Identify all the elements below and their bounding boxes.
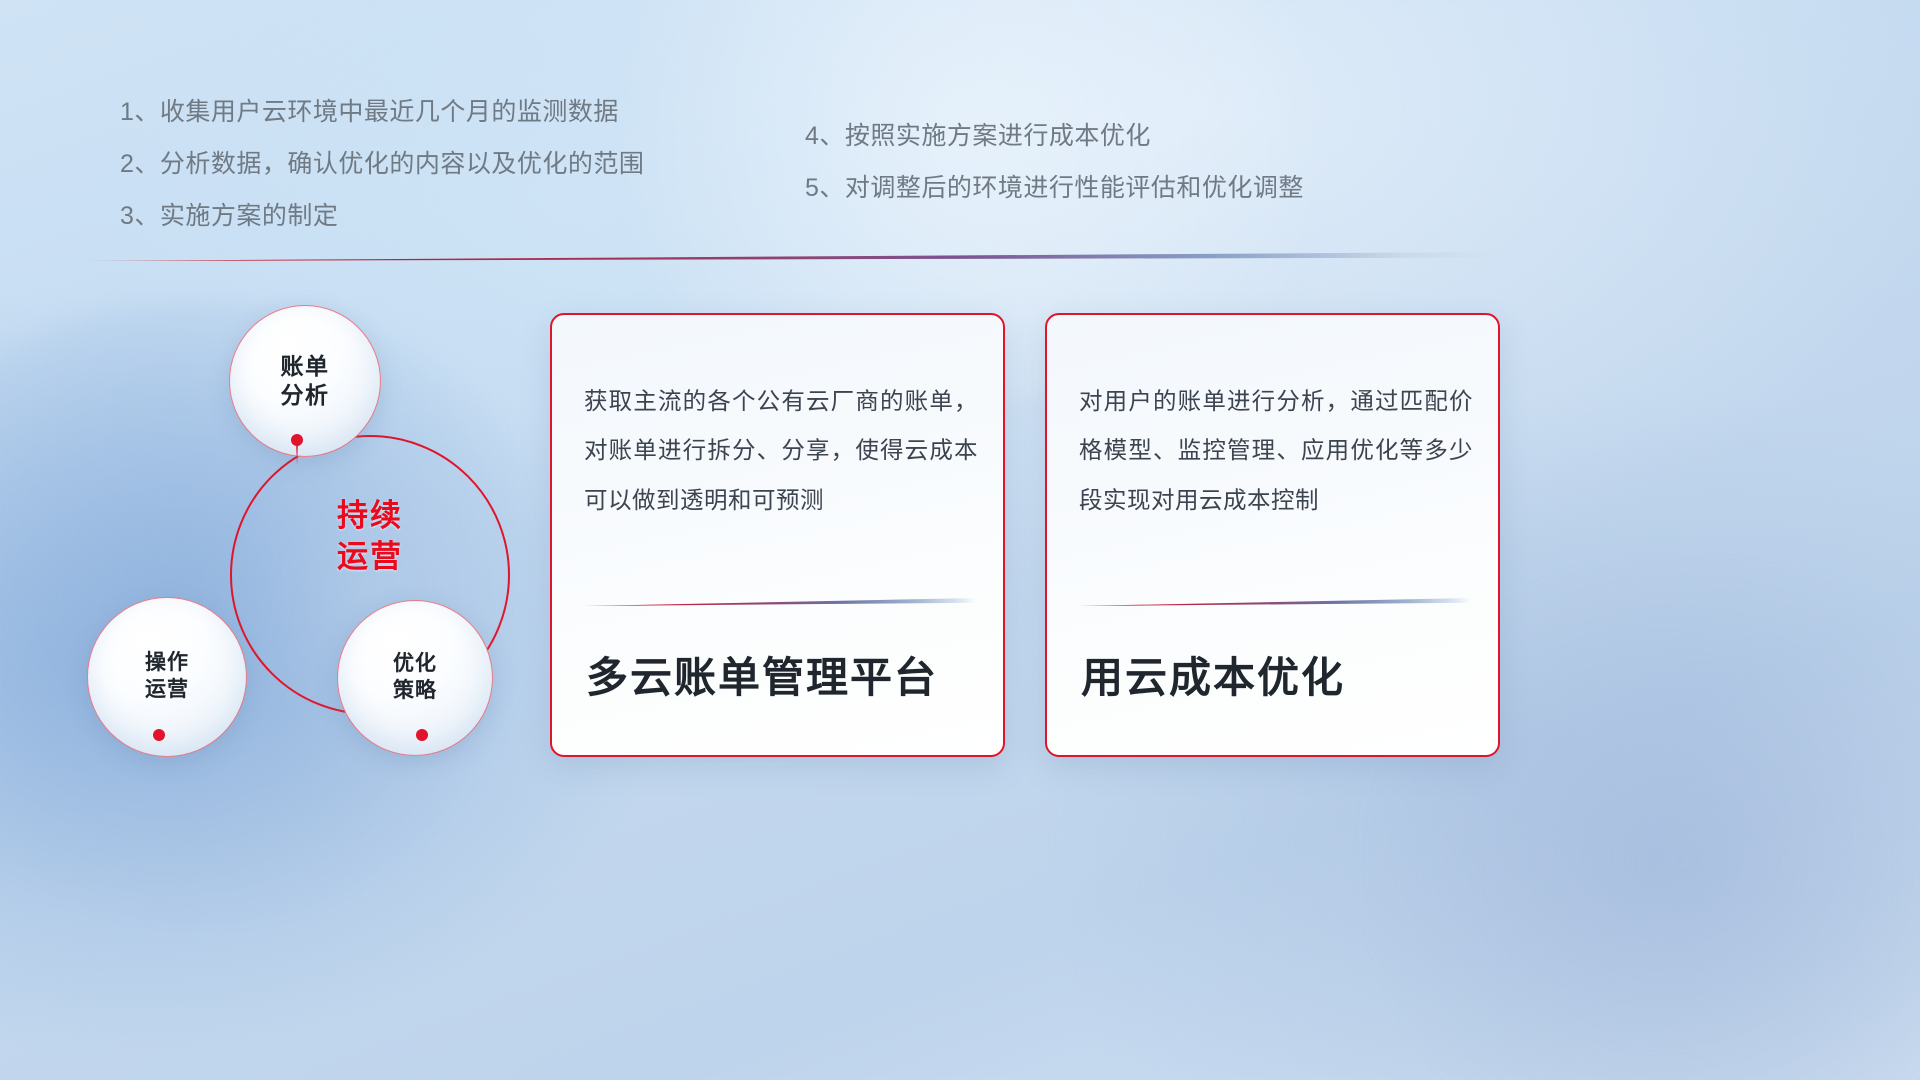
cycle-diagram: 持续 运营 账单 分析 操作 运营 优化 策略 <box>75 295 545 770</box>
bubble-optimization-strategy-line1: 优化 <box>393 651 437 678</box>
list-item: 4、按照实施方案进行成本优化 <box>805 124 1304 149</box>
list-item: 5、对调整后的环境进行性能评估和优化调整 <box>805 176 1304 201</box>
cycle-node-dot <box>153 729 165 741</box>
list-item: 2、分析数据，确认优化的内容以及优化的范围 <box>120 152 644 177</box>
bubble-bill-analysis-line2: 分析 <box>281 381 330 410</box>
cycle-center-line2: 运营 <box>260 536 480 577</box>
feature-card[interactable]: 获取主流的各个公有云厂商的账单，对账单进行拆分、分享，使得云成本可以做到透明和可… <box>550 313 1005 757</box>
feature-card-divider <box>584 598 976 606</box>
cycle-center-line1: 持续 <box>260 495 480 536</box>
bubble-optimization-strategy-line2: 策略 <box>393 678 437 705</box>
feature-card[interactable]: 对用户的账单进行分析，通过匹配价格模型、监控管理、应用优化等多少段实现对用云成本… <box>1045 313 1500 757</box>
bubble-operations-line1: 操作 <box>145 650 189 677</box>
cycle-center-label: 持续 运营 <box>260 495 480 577</box>
bubble-operations[interactable]: 操作 运营 <box>87 597 247 757</box>
steps-list-left: 1、收集用户云环境中最近几个月的监测数据 2、分析数据，确认优化的内容以及优化的… <box>120 100 644 256</box>
cycle-node-dot <box>291 434 303 446</box>
list-item: 1、收集用户云环境中最近几个月的监测数据 <box>120 100 644 125</box>
feature-card-title: 多云账单管理平台 <box>586 653 978 703</box>
feature-card-title: 用云成本优化 <box>1081 653 1473 703</box>
feature-card-body: 对用户的账单进行分析，通过匹配价格模型、监控管理、应用优化等多少段实现对用云成本… <box>1079 377 1473 525</box>
feature-card-divider <box>1079 598 1471 606</box>
bubble-operations-line2: 运营 <box>145 677 189 704</box>
cycle-node-dot <box>416 729 428 741</box>
feature-card-body: 获取主流的各个公有云厂商的账单，对账单进行拆分、分享，使得云成本可以做到透明和可… <box>584 377 978 525</box>
cycle-node-stem <box>296 445 298 465</box>
bubble-bill-analysis-line1: 账单 <box>281 352 330 381</box>
list-item: 3、实施方案的制定 <box>120 204 644 229</box>
bubble-bill-analysis[interactable]: 账单 分析 <box>229 305 381 457</box>
bubble-optimization-strategy[interactable]: 优化 策略 <box>337 600 493 756</box>
steps-list-right: 4、按照实施方案进行成本优化 5、对调整后的环境进行性能评估和优化调整 <box>805 124 1304 228</box>
